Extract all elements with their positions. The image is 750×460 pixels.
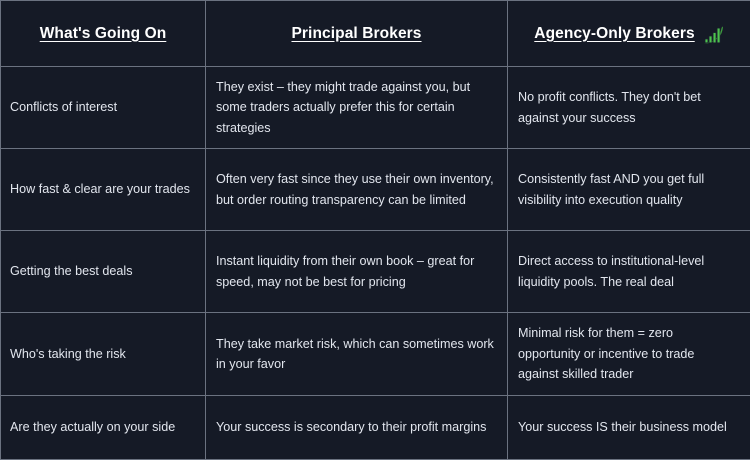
column-header-topic: What's Going On (1, 1, 206, 67)
table-header-row: What's Going On Principal Brokers Agency… (1, 1, 750, 67)
cell-topic: How fast & clear are your trades (1, 149, 206, 231)
cell-agency: Your success IS their business model (508, 396, 750, 460)
cell-agency: Direct access to institutional-level liq… (508, 231, 750, 313)
cell-principal: Your success is secondary to their profi… (206, 396, 508, 460)
table-row: Who's taking the risk They take market r… (1, 313, 750, 396)
cell-topic: Getting the best deals (1, 231, 206, 313)
cell-principal: They take market risk, which can sometim… (206, 313, 508, 396)
cell-agency: No profit conflicts. They don't bet agai… (508, 67, 750, 149)
table-row: Getting the best deals Instant liquidity… (1, 231, 750, 313)
column-header-topic-label: What's Going On (40, 25, 167, 43)
column-header-principal-brokers: Principal Brokers (206, 1, 508, 67)
column-header-agency-only-brokers: Agency-Only Brokers (508, 1, 750, 67)
column-header-agency-only-brokers-label: Agency-Only Brokers (534, 25, 694, 43)
chart-increasing-icon (702, 24, 724, 46)
cell-principal: Often very fast since they use their own… (206, 149, 508, 231)
table-row: Conflicts of interest They exist – they … (1, 67, 750, 149)
table-header: What's Going On Principal Brokers Agency… (1, 1, 750, 67)
table-row: How fast & clear are your trades Often v… (1, 149, 750, 231)
cell-principal: Instant liquidity from their own book – … (206, 231, 508, 313)
table-row: Are they actually on your side Your succ… (1, 396, 750, 460)
broker-comparison-table: What's Going On Principal Brokers Agency… (0, 0, 750, 460)
table-body: Conflicts of interest They exist – they … (1, 67, 750, 460)
cell-agency: Minimal risk for them = zero opportunity… (508, 313, 750, 396)
column-header-principal-brokers-label: Principal Brokers (291, 25, 421, 43)
cell-topic: Conflicts of interest (1, 67, 206, 149)
cell-agency: Consistently fast AND you get full visib… (508, 149, 750, 231)
cell-principal: They exist – they might trade against yo… (206, 67, 508, 149)
cell-topic: Are they actually on your side (1, 396, 206, 460)
cell-topic: Who's taking the risk (1, 313, 206, 396)
